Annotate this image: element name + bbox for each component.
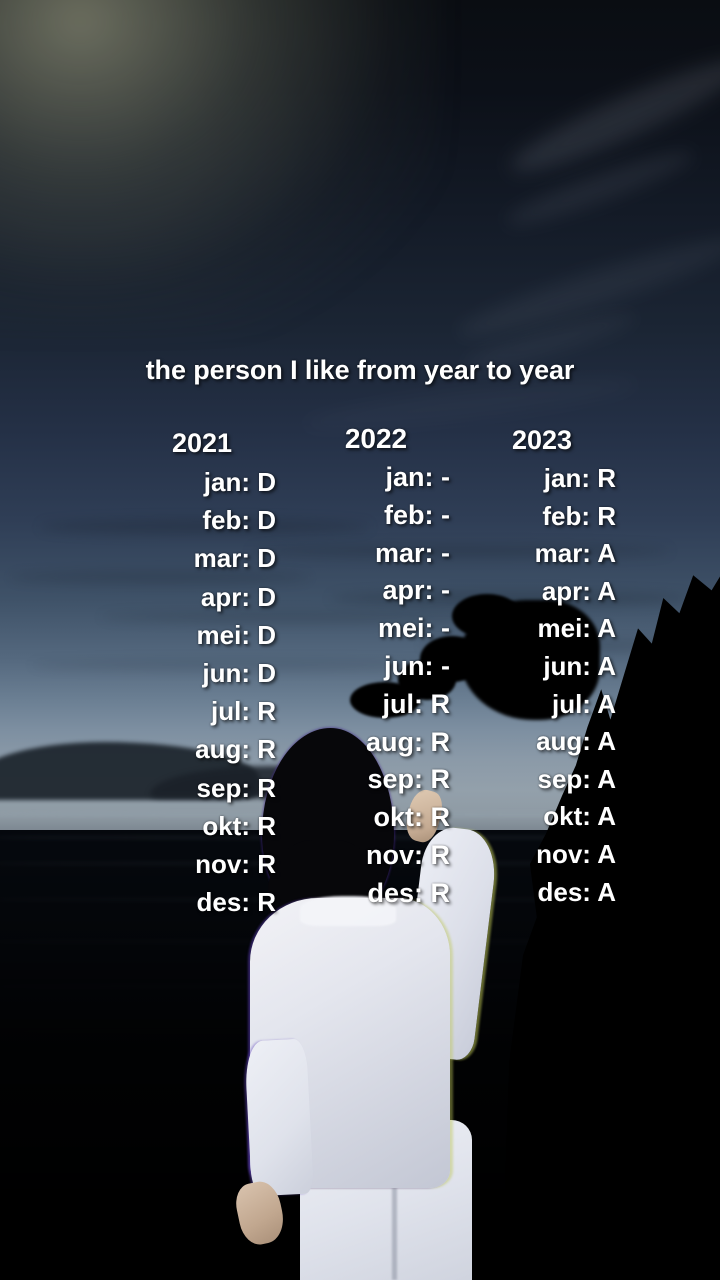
month-entry: apr: D xyxy=(128,578,276,616)
month-entry: nov: A xyxy=(468,836,616,874)
month-entry: feb: D xyxy=(128,501,276,539)
year-heading-2021: 2021 xyxy=(128,425,276,461)
month-entry: aug: R xyxy=(302,724,450,762)
year-heading-2023: 2023 xyxy=(468,422,616,458)
month-entry: feb: - xyxy=(302,497,450,535)
month-entry: sep: A xyxy=(468,761,616,799)
month-entry: mar: - xyxy=(302,535,450,573)
month-entry: okt: A xyxy=(468,798,616,836)
text-overlay: the person I like from year to year 2021… xyxy=(0,0,720,1280)
month-entry: des: R xyxy=(128,883,276,921)
year-column-2022: 2022 jan: - feb: - mar: - apr: - mei: - … xyxy=(302,421,450,913)
page-title: the person I like from year to year xyxy=(0,355,720,386)
month-entry: jan: D xyxy=(128,463,276,501)
month-entry: okt: R xyxy=(128,807,276,845)
month-entry: mei: - xyxy=(302,610,450,648)
month-entry: des: R xyxy=(302,875,450,913)
month-entry: jan: - xyxy=(302,459,450,497)
story-image-canvas: the person I like from year to year 2021… xyxy=(0,0,720,1280)
month-entry: okt: R xyxy=(302,799,450,837)
month-entry: jan: R xyxy=(468,460,616,498)
month-entry: aug: A xyxy=(468,723,616,761)
month-entry: jun: A xyxy=(468,648,616,686)
month-entry: mar: D xyxy=(128,539,276,577)
month-entry: jul: R xyxy=(128,692,276,730)
month-entry: sep: R xyxy=(128,769,276,807)
month-entry: des: A xyxy=(468,874,616,912)
month-entry: feb: R xyxy=(468,498,616,536)
month-entry: aug: R xyxy=(128,730,276,768)
year-heading-2022: 2022 xyxy=(302,421,450,457)
month-entry: mei: D xyxy=(128,616,276,654)
month-entry: jul: A xyxy=(468,686,616,724)
year-column-2021: 2021 jan: D feb: D mar: D apr: D mei: D … xyxy=(128,425,276,921)
month-entry: nov: R xyxy=(128,845,276,883)
month-entry: jun: D xyxy=(128,654,276,692)
year-column-2023: 2023 jan: R feb: R mar: A apr: A mei: A … xyxy=(468,422,616,911)
month-entry: apr: - xyxy=(302,572,450,610)
month-entry: sep: R xyxy=(302,761,450,799)
month-entry: jun: - xyxy=(302,648,450,686)
month-entry: apr: A xyxy=(468,573,616,611)
month-entry: jul: R xyxy=(302,686,450,724)
month-entry: mei: A xyxy=(468,610,616,648)
month-entry: nov: R xyxy=(302,837,450,875)
month-entry: mar: A xyxy=(468,535,616,573)
